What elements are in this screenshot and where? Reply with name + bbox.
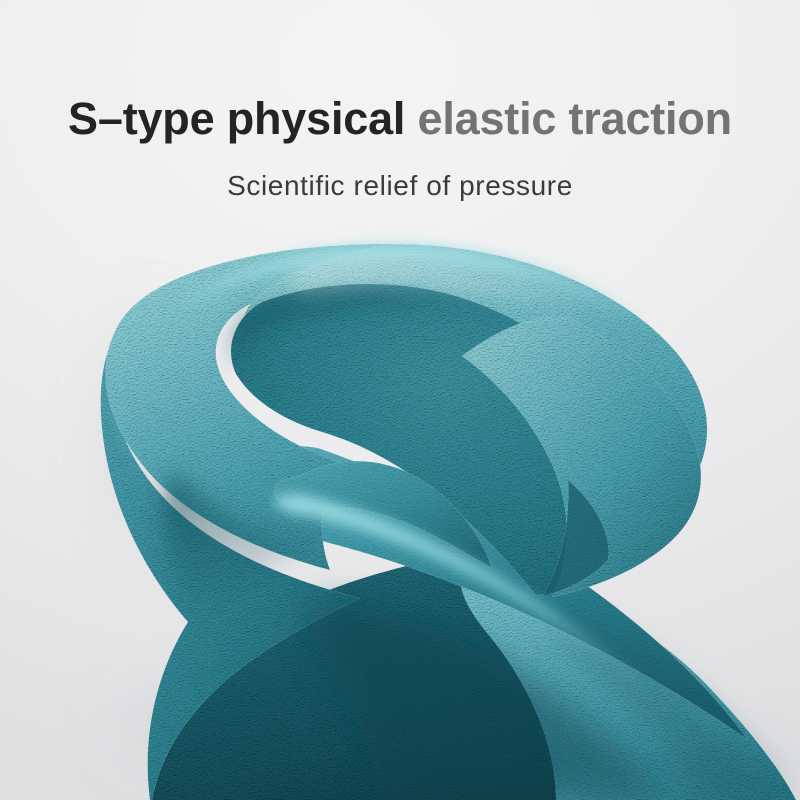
headline-strong: S–type physical [68, 93, 405, 144]
s-cushion-body [101, 244, 796, 800]
subheadline: Scientific relief of pressure [0, 172, 800, 200]
headline: S–type physical elastic traction [0, 96, 800, 141]
product-hero-banner: S–type physical elastic traction Scienti… [0, 0, 800, 800]
headline-muted: elastic traction [405, 93, 732, 144]
